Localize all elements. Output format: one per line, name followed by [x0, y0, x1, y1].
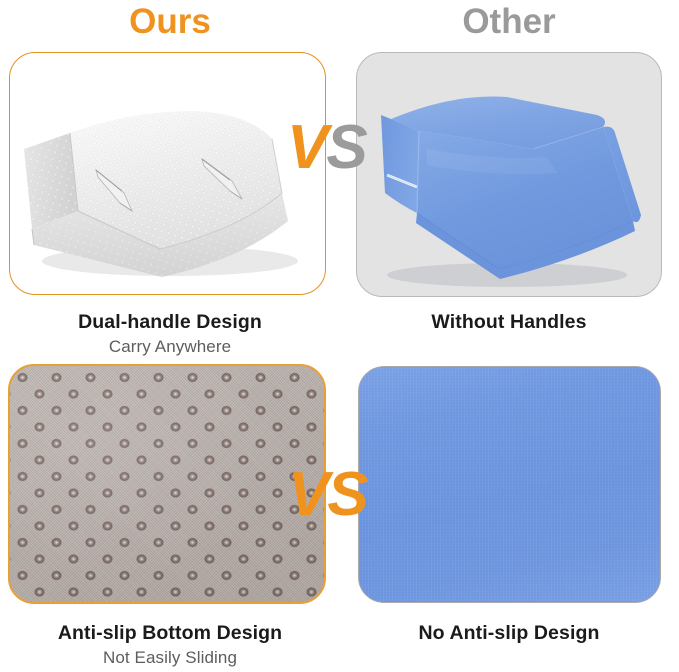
- caption-other-handles: Without Handles: [339, 309, 679, 335]
- white-wedge-pillow-image: [10, 53, 325, 294]
- caption-ours-antislip: Anti-slip Bottom Design Not Easily Slidi…: [0, 620, 340, 670]
- vs-badge-top: VS: [287, 117, 366, 179]
- white-wedge-pillow-icon: [10, 53, 326, 295]
- product-panel-other-handles: [356, 52, 662, 297]
- comparison-header-row: Ours Other: [0, 0, 679, 48]
- caption-title: Without Handles: [339, 309, 679, 335]
- caption-ours-handles: Dual-handle Design Carry Anywhere: [0, 309, 340, 359]
- product-panel-other-antislip: [358, 366, 661, 603]
- caption-title: Anti-slip Bottom Design: [0, 620, 340, 646]
- vs-letter-v: V: [288, 460, 327, 529]
- vs-badge-bottom: VS: [288, 464, 367, 526]
- product-panel-ours-antislip: [8, 364, 326, 604]
- caption-subtitle: Carry Anywhere: [0, 335, 340, 359]
- caption-title: Dual-handle Design: [0, 309, 340, 335]
- caption-title: No Anti-slip Design: [339, 620, 679, 646]
- vs-letter-v: V: [287, 113, 326, 182]
- vs-letter-s: S: [327, 460, 366, 529]
- header-label-ours: Ours: [0, 0, 340, 44]
- caption-other-antislip: No Anti-slip Design: [339, 620, 679, 646]
- plain-blue-fabric-image: [359, 367, 660, 602]
- anti-slip-shading-overlay: [10, 366, 324, 602]
- caption-subtitle: Not Easily Sliding: [0, 646, 340, 670]
- blue-wedge-pillow-icon: [357, 53, 662, 297]
- vs-letter-s: S: [326, 113, 365, 182]
- anti-slip-fabric-image: [10, 366, 324, 602]
- header-label-other: Other: [339, 0, 679, 44]
- product-panel-ours-handles: [9, 52, 326, 295]
